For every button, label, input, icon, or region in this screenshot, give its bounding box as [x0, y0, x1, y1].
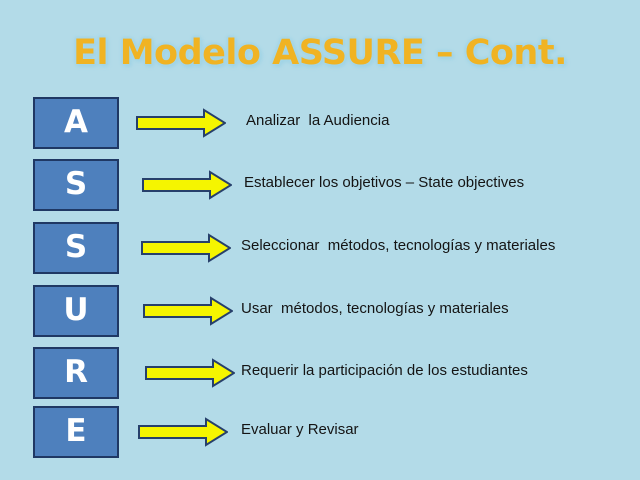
arrow-right-icon	[143, 296, 233, 326]
letter-box-label: A	[64, 107, 88, 140]
step-description: Establecer los objetivos – State objecti…	[244, 172, 524, 194]
step-description: Seleccionar métodos, tecnologías y mater…	[241, 235, 555, 257]
arrow-right-icon	[141, 233, 231, 263]
page-title: El Modelo ASSURE – Cont.	[0, 33, 640, 73]
slide-canvas: El Modelo ASSURE – Cont. A Analizar la A…	[0, 0, 640, 480]
arrow-right-icon	[142, 170, 232, 200]
assure-step-row: U Usar métodos, tecnologías y materiales	[0, 285, 640, 337]
letter-box-label: S	[65, 232, 87, 265]
arrow-right-icon	[138, 417, 228, 447]
letter-box-label: E	[65, 416, 86, 449]
assure-step-row: A Analizar la Audiencia	[0, 97, 640, 149]
letter-box-a[interactable]: A	[33, 97, 119, 149]
assure-step-row: S Seleccionar métodos, tecnologías y mat…	[0, 222, 640, 274]
arrow-right-icon	[145, 358, 235, 388]
step-description: Requerir la participación de los estudia…	[241, 360, 528, 382]
letter-box-r[interactable]: R	[33, 347, 119, 399]
arrow-right-icon	[136, 108, 226, 138]
assure-step-row: S Establecer los objetivos – State objec…	[0, 159, 640, 211]
letter-box-u[interactable]: U	[33, 285, 119, 337]
assure-step-row: E Evaluar y Revisar	[0, 406, 640, 458]
step-description: Analizar la Audiencia	[246, 110, 389, 132]
assure-step-row: R Requerir la participación de los estud…	[0, 347, 640, 399]
step-description: Usar métodos, tecnologías y materiales	[241, 298, 509, 320]
letter-box-label: S	[65, 169, 87, 202]
letter-box-label: U	[63, 295, 88, 328]
letter-box-s1[interactable]: S	[33, 159, 119, 211]
step-description: Evaluar y Revisar	[241, 419, 359, 441]
letter-box-s2[interactable]: S	[33, 222, 119, 274]
letter-box-e[interactable]: E	[33, 406, 119, 458]
letter-box-label: R	[64, 357, 88, 390]
